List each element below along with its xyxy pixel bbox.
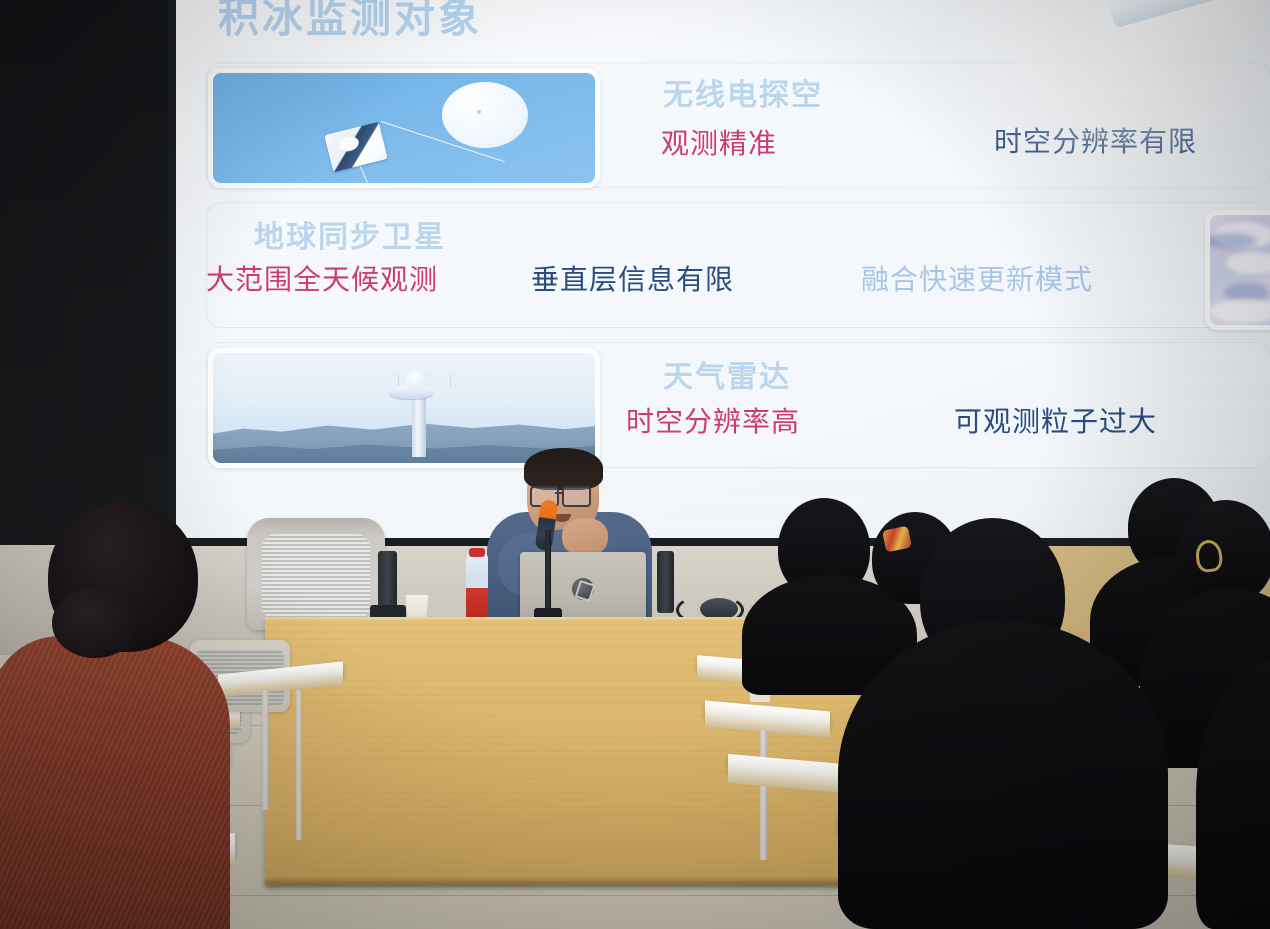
podium-shadow: [265, 880, 890, 888]
audience-member-hair-bun: [52, 588, 138, 658]
dell-logo-icon: [572, 578, 594, 600]
row2-item-3: 融合快速更新模式: [861, 258, 1093, 298]
dark-wall: [0, 0, 190, 560]
water-bottle-cap: [469, 548, 485, 557]
audience-member-sweater: [0, 636, 230, 929]
screenshot-root: 积冰监测对象: [0, 0, 1270, 929]
row-heading-radar: 天气雷达: [663, 352, 791, 396]
row1-item-1: 观测精准: [661, 122, 777, 162]
presenter-hand: [562, 518, 608, 556]
presentation-slide: 积冰监测对象: [176, 0, 1270, 538]
weather-balloon-photo: [208, 68, 600, 188]
row3-item-2: 可观测粒子过大: [954, 400, 1157, 440]
satellite-imagery-photo: [1205, 210, 1270, 330]
projection-screen: 积冰监测对象: [176, 0, 1270, 538]
chair-mesh-back: [262, 534, 370, 620]
slide-title: 积冰监测对象: [218, 0, 482, 44]
water-bottle-label: [466, 588, 488, 619]
row-heading-satellite: 地球同步卫星: [254, 212, 446, 256]
row-heading-radiosonde: 无线电探空: [663, 70, 823, 114]
presenter-hair: [524, 448, 603, 490]
presenter-glasses-right: [562, 486, 591, 507]
audience-shoulders-foreground: [838, 620, 1168, 929]
row2-item-2: 垂直层信息有限: [531, 258, 734, 298]
row2-item-1: 大范围全天候观测: [206, 258, 438, 298]
row1-item-2: 时空分辨率有限: [994, 120, 1197, 160]
speaker-right: [657, 551, 674, 613]
presenter-glasses-bridge: [555, 492, 562, 494]
row3-item-1: 时空分辨率高: [626, 400, 800, 440]
